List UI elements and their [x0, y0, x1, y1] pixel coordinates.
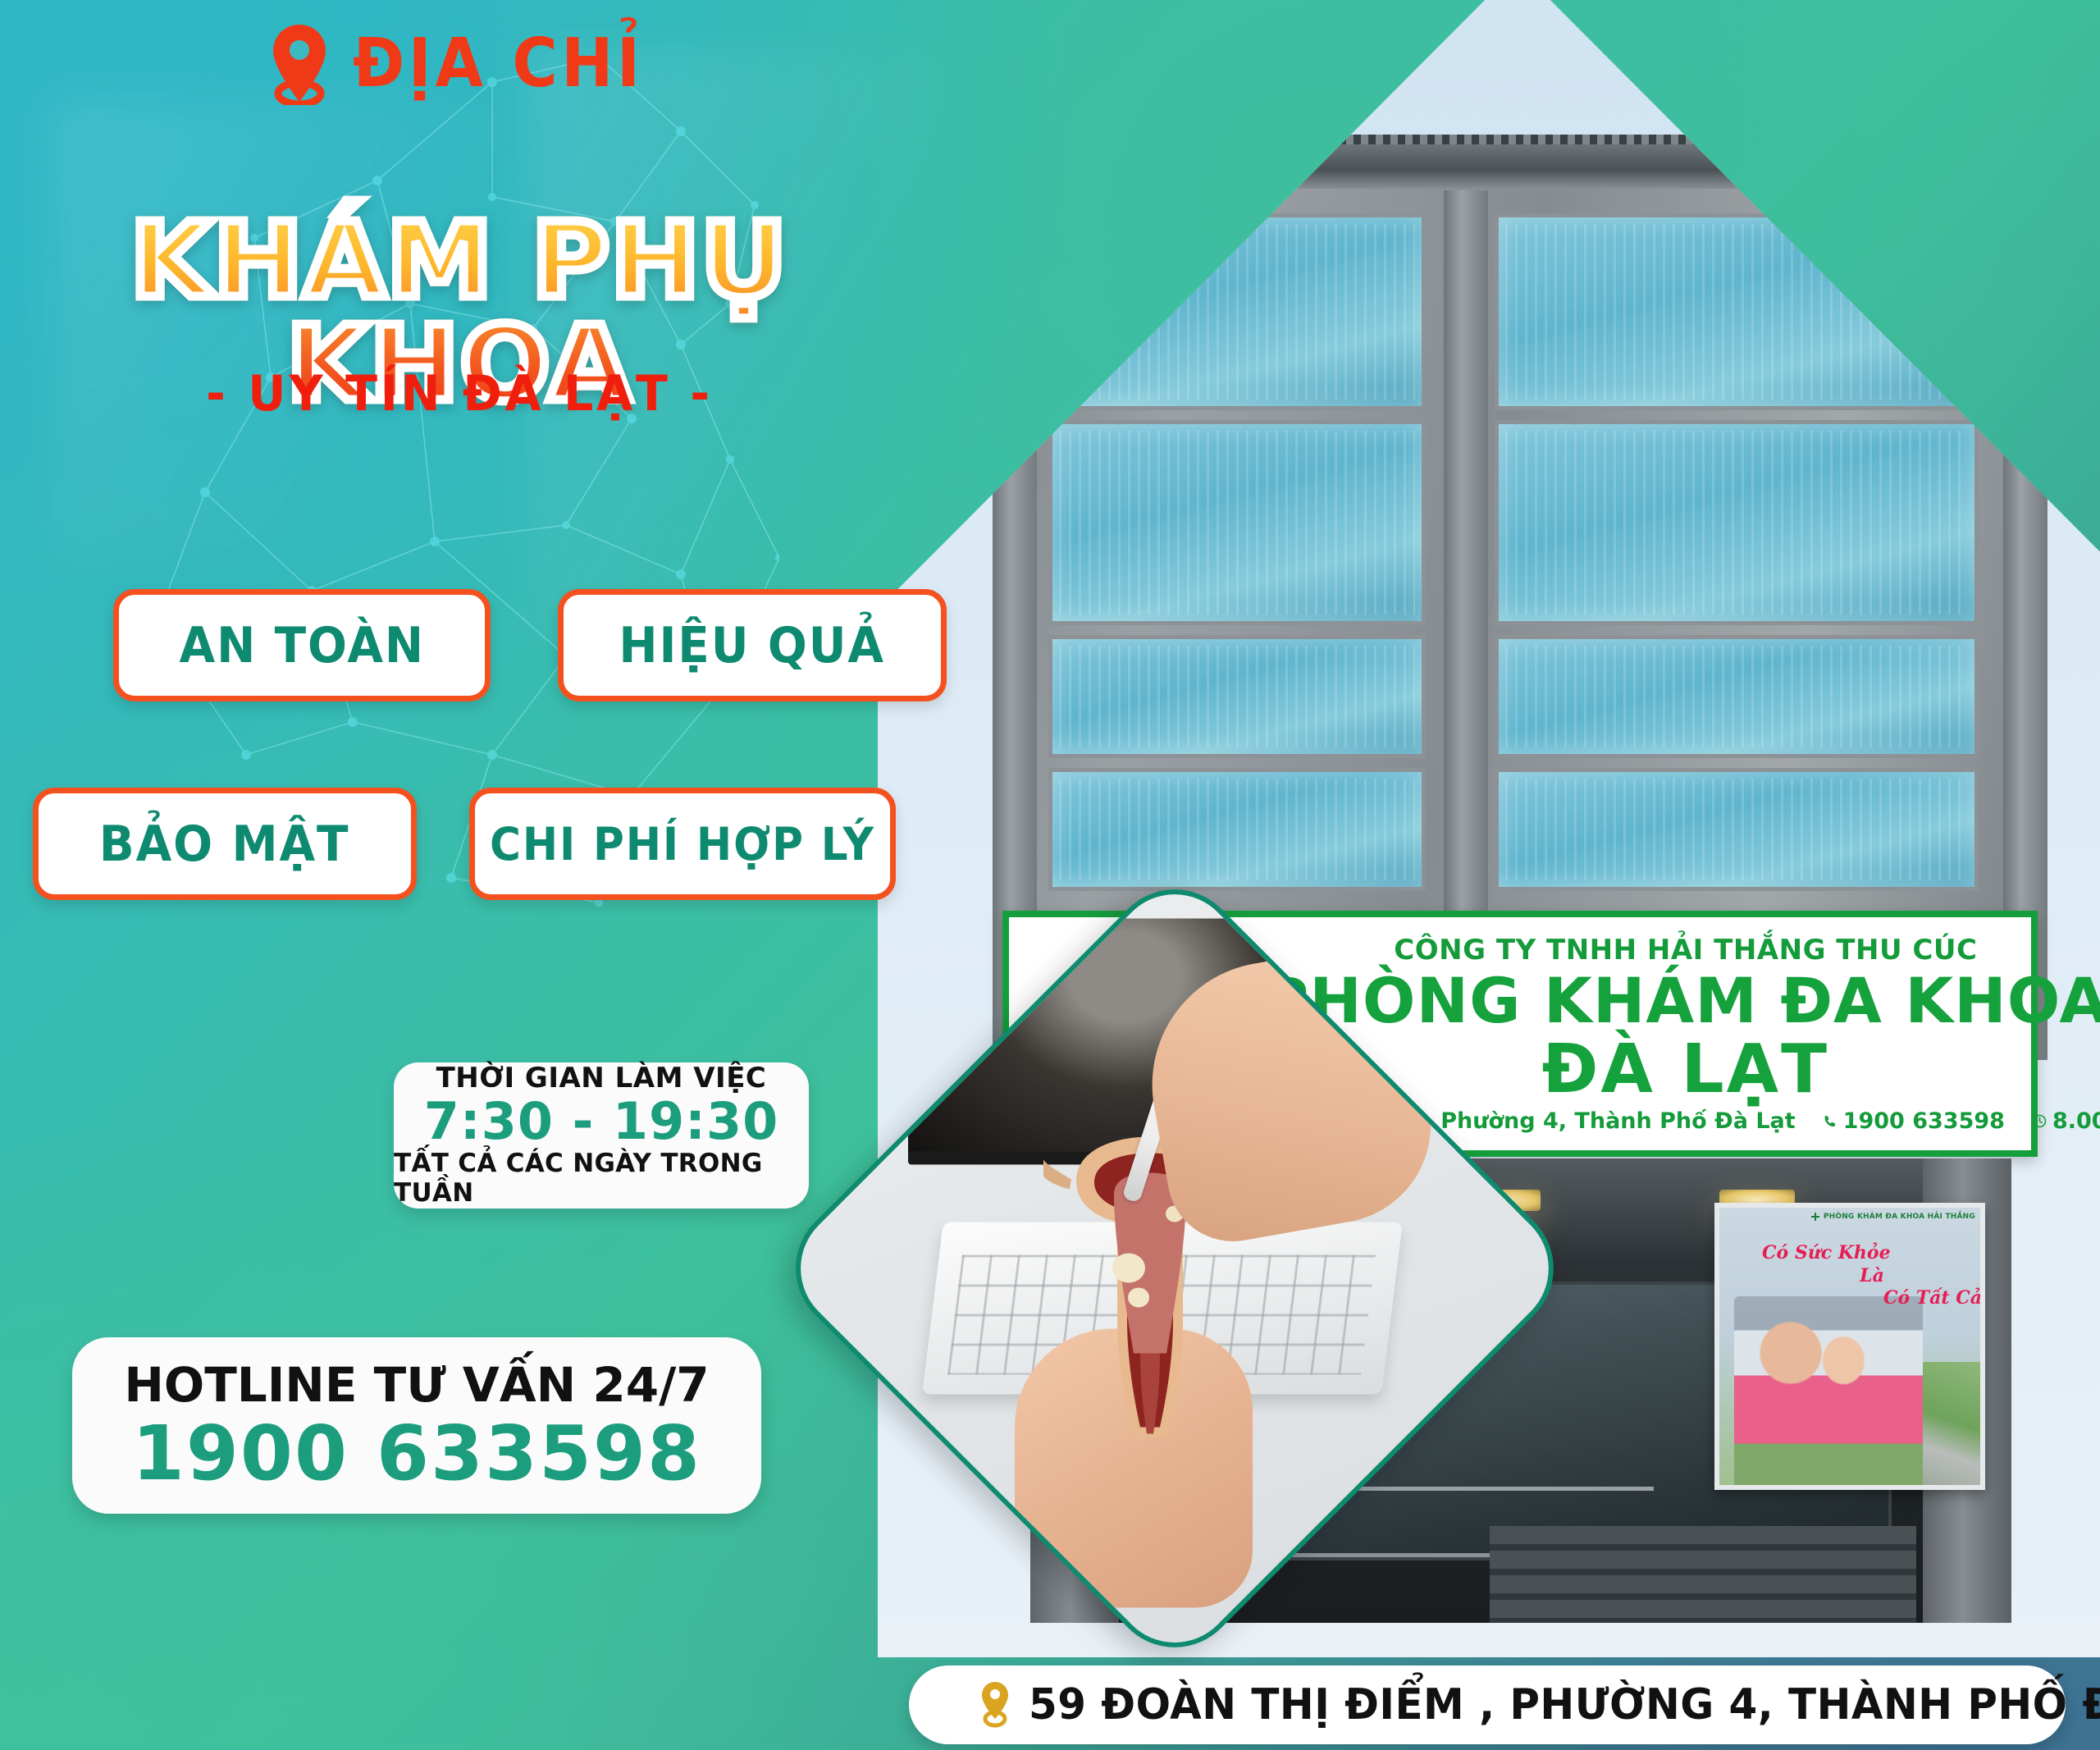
sign-hours-text: 8.00-20:00 [2052, 1108, 2100, 1134]
window-pane [1048, 768, 1426, 891]
network-pattern-decoration [107, 33, 779, 919]
location-pin-icon [979, 1681, 1011, 1729]
gynecology-model-photo [769, 862, 1581, 1675]
address-bar[interactable]: 59 ĐOÀN THỊ ĐIỂM , PHƯỜNG 4, THÀNH PHỐ Đ… [909, 1665, 2066, 1744]
ceiling-light [1719, 1190, 1795, 1211]
sign-phone-text: 1900 633598 [1843, 1108, 2005, 1134]
working-hours-value: 7:30 - 19:30 [424, 1094, 778, 1148]
facade-pillar-mid [1444, 190, 1488, 1058]
facade-pillar-left [993, 190, 1037, 1058]
hotline-number[interactable]: 1900 633598 [132, 1413, 701, 1494]
window-pane [1048, 213, 1426, 410]
feature-box-chi-phi-hop-ly[interactable]: CHI PHÍ HỢP LÝ [469, 788, 896, 900]
feature-box-hieu-qua[interactable]: HIỆU QUẢ [558, 589, 947, 701]
window-pane [1495, 213, 1979, 410]
working-hours-note: TẤT CẢ CÁC NGÀY TRONG TUẦN [394, 1149, 809, 1208]
poster-slogan-line3: Có Tất Cả [1762, 1287, 1982, 1310]
hotline-label: HOTLINE TƯ VẤN 24/7 [124, 1357, 709, 1413]
window-pane [1495, 420, 1979, 625]
sign-hours-item: 8.00-20:00 [2033, 1108, 2100, 1134]
promo-banner: CÔNG TY TNHH HẢI THẮNG THU CÚC PHÒNG KHÁ… [0, 0, 2100, 1750]
roof-slab [973, 144, 2064, 190]
feature-label: BẢO MẬT [99, 816, 350, 873]
hotline-card[interactable]: HOTLINE TƯ VẤN 24/7 1900 633598 [72, 1337, 761, 1514]
working-hours-card: THỜI GIAN LÀM VIỆC 7:30 - 19:30 TẤT CẢ C… [394, 1062, 809, 1209]
poster-slogan-line2: Là [1762, 1265, 1982, 1288]
feature-box-bao-mat[interactable]: BẢO MẬT [33, 788, 417, 900]
feature-box-an-toan[interactable]: AN TOÀN [113, 589, 491, 701]
sign-phone-item: 1900 633598 [1824, 1108, 2005, 1134]
feature-label: HIỆU QUẢ [619, 617, 886, 674]
entrance-column-right [1923, 1158, 2011, 1623]
poster-slogan: Có Sức Khỏe Là Có Tất Cả [1762, 1242, 1982, 1310]
green-cross-icon [1811, 1213, 1819, 1221]
location-pin-icon [271, 23, 328, 105]
window-pane [1048, 635, 1426, 758]
poster-brand-row: PHÒNG KHÁM ĐA KHOA HẢI THẮNG [1811, 1213, 1975, 1221]
working-hours-label: THỜI GIAN LÀM VIỆC [436, 1062, 767, 1094]
header-label: ĐỊA CHỈ [353, 30, 644, 98]
sign-city: ĐÀ LẠT [1542, 1035, 1829, 1104]
poster-road-scenery [1841, 1362, 1980, 1485]
window-pane [1495, 768, 1979, 891]
poster-family-photo [1734, 1296, 1923, 1485]
roof-trim [984, 135, 2051, 148]
facade-pillar-right [2003, 190, 2047, 1058]
sign-main-title: PHÒNG KHÁM ĐA KHOA [1263, 968, 2100, 1034]
poster-slogan-line1: Có Sức Khỏe [1762, 1242, 1891, 1263]
address-text: 59 ĐOÀN THỊ ĐIỂM , PHƯỜNG 4, THÀNH PHỐ Đ… [1029, 1680, 2100, 1729]
feature-label: CHI PHÍ HỢP LÝ [490, 818, 875, 870]
entrance-steps [1490, 1526, 1916, 1623]
clock-icon [2033, 1114, 2047, 1128]
lobby-poster: PHÒNG KHÁM ĐA KHOA HẢI THẮNG Có Sức Khỏe… [1714, 1203, 1985, 1490]
header-row: ĐỊA CHỈ [271, 23, 669, 105]
phone-icon [1824, 1114, 1837, 1129]
page-subtitle: - UY TÍN ĐÀ LẠT - [70, 365, 849, 423]
sign-company-name: CÔNG TY TNHH HẢI THẮNG THU CÚC [1394, 934, 1977, 966]
window-pane [1495, 635, 1979, 758]
poster-brand-text: PHÒNG KHÁM ĐA KHOA HẢI THẮNG [1824, 1213, 1975, 1221]
feature-label: AN TOÀN [179, 617, 424, 674]
window-pane [1048, 420, 1426, 625]
